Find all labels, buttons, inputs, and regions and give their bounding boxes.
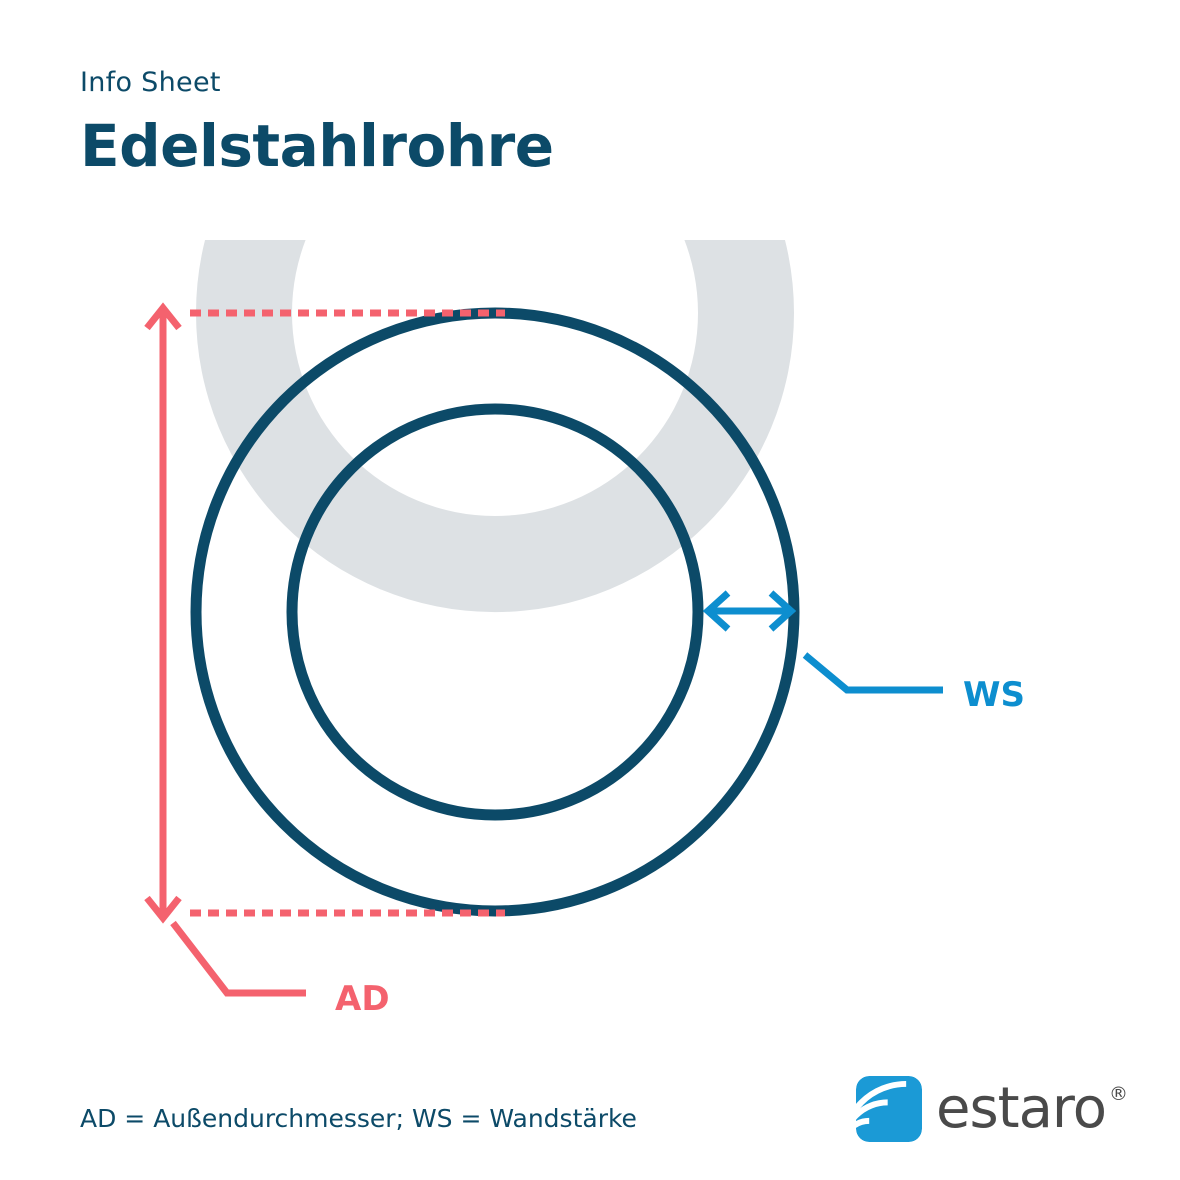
page-header: Info Sheet Edelstahlrohre [80,68,980,177]
ws-leader-line [805,655,943,690]
ws-label: WS [963,675,1025,715]
pipe-ring-graphic [196,240,794,911]
page-title: Edelstahlrohre [80,116,980,177]
pipe-cross-section-diagram: AD WS [0,240,1180,1040]
brand-logo: estaro ® [856,1068,1128,1150]
estaro-wordmark: estaro ® [936,1083,1128,1135]
ad-label: AD [335,979,390,1019]
ad-leader-line [173,923,306,993]
brand-name-text: estaro [936,1083,1106,1135]
pipe-wall-fill [196,240,794,612]
registered-trademark-symbol: ® [1109,1085,1128,1104]
info-sheet-page: Info Sheet Edelstahlrohre [0,0,1180,1180]
ws-dimension-group: WS [708,593,1025,715]
document-eyebrow: Info Sheet [80,68,980,98]
abbreviation-legend: AD = Außendurchmesser; WS = Wandstärke [80,1104,637,1133]
estaro-logo-mark-icon [856,1076,922,1142]
